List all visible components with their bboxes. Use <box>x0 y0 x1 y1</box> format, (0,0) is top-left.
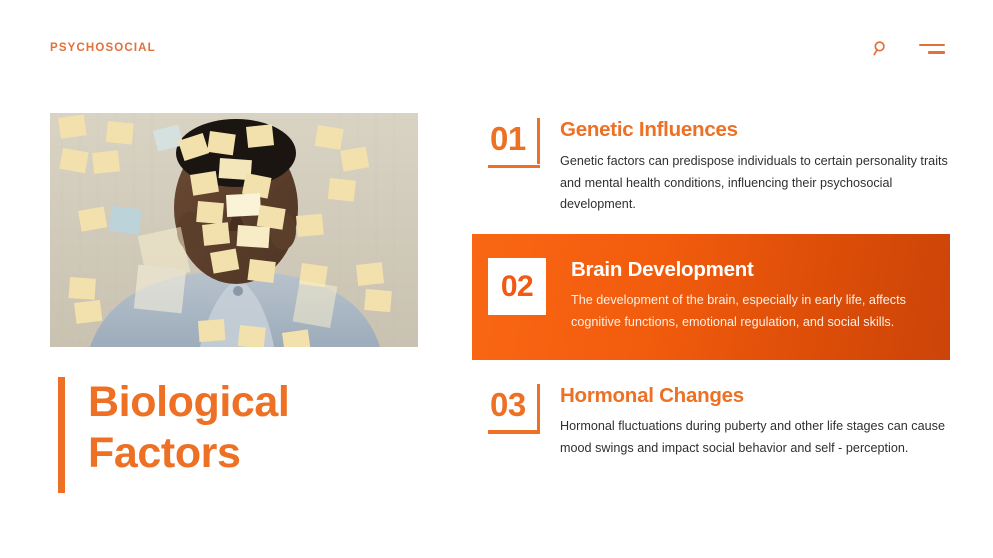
page-title: Biological Factors <box>58 377 418 493</box>
item-number-bracket: 03 <box>482 384 560 446</box>
brand-label: PSYCHOSOCIAL <box>50 43 156 55</box>
bracket-horizontal-line <box>488 165 540 169</box>
item-number: 01 <box>490 122 526 155</box>
page-title-line-2: Factors <box>88 428 289 479</box>
hero-photo-illustration <box>50 113 418 347</box>
search-icon[interactable] <box>872 40 889 57</box>
hamburger-menu-icon[interactable] <box>919 44 945 54</box>
list-item[interactable]: 01 Genetic Influences Genetic factors ca… <box>472 110 950 216</box>
item-body: Brain Development The development of the… <box>571 258 932 333</box>
menu-bar-top <box>919 44 945 47</box>
item-description: Hormonal fluctuations during puberty and… <box>560 416 950 460</box>
title-accent-bar <box>58 377 65 493</box>
item-title: Hormonal Changes <box>560 384 950 409</box>
item-description: Genetic factors can predispose individua… <box>560 151 950 217</box>
item-number: 02 <box>501 272 533 302</box>
hero-photo <box>50 113 418 347</box>
bracket-vertical-line <box>537 118 541 164</box>
list-item-highlighted[interactable]: 02 Brain Development The development of … <box>472 234 950 359</box>
hamburger-menu-glyph <box>919 44 945 54</box>
bracket-vertical-line <box>537 384 541 430</box>
menu-bar-bottom <box>928 51 945 54</box>
topbar-actions <box>872 40 945 57</box>
page-title-text: Biological Factors <box>88 377 289 493</box>
list-item[interactable]: 03 Hormonal Changes Hormonal fluctuation… <box>472 376 950 460</box>
bracket-horizontal-line <box>488 430 540 434</box>
item-title: Genetic Influences <box>560 118 950 143</box>
factor-list: 01 Genetic Influences Genetic factors ca… <box>472 110 950 460</box>
item-number: 03 <box>490 388 526 421</box>
top-bar: PSYCHOSOCIAL <box>0 0 993 95</box>
item-number-bracket: 01 <box>482 118 560 180</box>
item-body: Genetic Influences Genetic factors can p… <box>560 118 950 216</box>
page-title-line-1: Biological <box>88 377 289 428</box>
item-description: The development of the brain, especially… <box>571 290 932 334</box>
item-number-box: 02 <box>488 258 546 315</box>
item-title: Brain Development <box>571 258 932 283</box>
item-body: Hormonal Changes Hormonal fluctuations d… <box>560 384 950 460</box>
